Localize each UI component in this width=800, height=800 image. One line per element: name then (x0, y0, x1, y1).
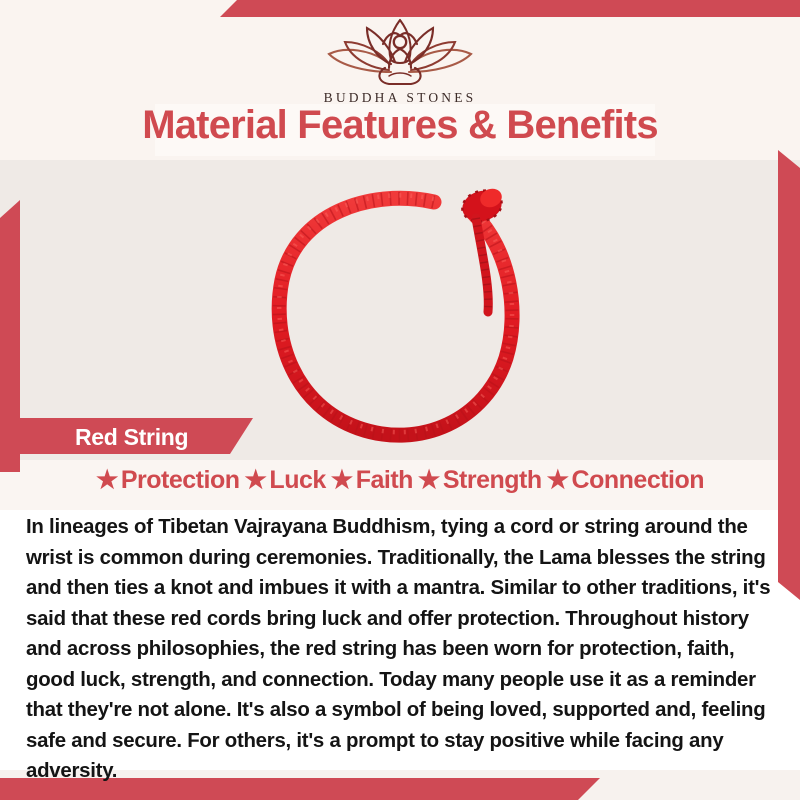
star-icon: ★ (96, 468, 118, 493)
red-braided-string-bracelet-icon (238, 162, 578, 472)
product-image (238, 162, 578, 472)
page-title: Material Features & Benefits (0, 103, 800, 148)
star-icon: ★ (331, 468, 353, 493)
brand-logo: BUDDHA STONES (0, 16, 800, 106)
description-text: In lineages of Tibetan Vajrayana Buddhis… (26, 512, 774, 787)
benefits-list: ★ Protection ★ Luck ★ Faith ★ Strength ★… (0, 466, 800, 495)
benefit-label: Faith (356, 466, 413, 495)
benefit-item-luck: ★ Luck (245, 466, 326, 495)
benefit-item-protection: ★ Protection (96, 466, 240, 495)
benefit-item-faith: ★ Faith (331, 466, 413, 495)
decor-bar-left (0, 200, 20, 472)
benefit-label: Strength (443, 466, 542, 495)
decor-bar-right (778, 150, 800, 600)
benefit-item-connection: ★ Connection (547, 466, 704, 495)
red-string-label: Red String (75, 424, 188, 451)
decor-bar-top-right (220, 0, 800, 17)
star-icon: ★ (245, 468, 267, 493)
lotus-meditation-figure-icon (315, 16, 485, 88)
benefit-item-strength: ★ Strength (418, 466, 542, 495)
product-feature-poster: BUDDHA STONES Material Features & Benefi… (0, 0, 800, 800)
benefit-label: Connection (572, 466, 705, 495)
star-icon: ★ (418, 468, 440, 493)
star-icon: ★ (547, 468, 569, 493)
benefit-label: Protection (121, 466, 240, 495)
benefit-label: Luck (269, 466, 325, 495)
